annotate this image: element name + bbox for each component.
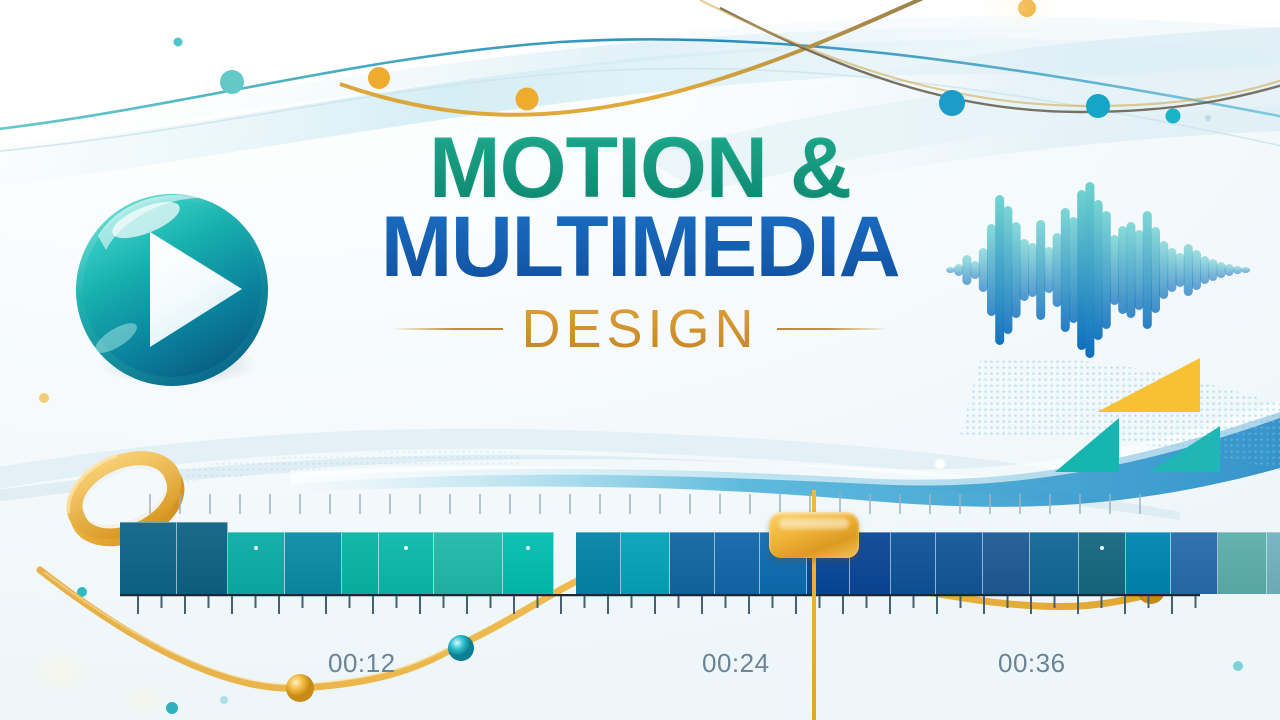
timeline-clip[interactable] <box>434 532 503 594</box>
timeline-clip[interactable] <box>1030 532 1079 594</box>
timeline-clip[interactable] <box>983 532 1030 594</box>
timestamp-2: 00:36 <box>998 648 1066 679</box>
timeline-clip[interactable] <box>715 532 760 594</box>
timeline-clip[interactable] <box>1218 532 1267 594</box>
clip-marker-dot <box>254 546 258 550</box>
timeline-clip[interactable] <box>120 522 177 594</box>
title-line-motion: MOTION & <box>300 128 980 210</box>
clip-marker-dot <box>526 546 530 550</box>
timeline-clip[interactable] <box>576 532 621 594</box>
timeline-clip[interactable] <box>177 522 228 594</box>
divider-right <box>777 328 889 330</box>
timeline-clip[interactable] <box>1079 532 1126 594</box>
clip-marker-dot <box>1100 546 1104 550</box>
timeline-clip[interactable] <box>1267 532 1280 594</box>
timeline-clip[interactable] <box>285 532 342 594</box>
playhead-handle[interactable] <box>769 512 859 558</box>
ruler-top <box>120 490 1200 522</box>
divider-left <box>391 328 503 330</box>
timeline-clip[interactable] <box>621 532 670 594</box>
timeline-clip[interactable] <box>891 532 936 594</box>
timeline-clip[interactable] <box>503 532 554 594</box>
playhead[interactable] <box>812 490 816 720</box>
timestamp-0: 00:12 <box>328 648 396 679</box>
poster-title: MOTION & MULTIMEDIA DESIGN <box>300 128 980 360</box>
timestamp-1: 00:24 <box>702 648 770 679</box>
title-line-design: DESIGN <box>521 298 758 360</box>
timeline-clip[interactable] <box>228 532 285 594</box>
title-design-row: DESIGN <box>300 298 980 360</box>
timeline-clip[interactable] <box>342 532 379 594</box>
timeline-clip[interactable] <box>670 532 715 594</box>
timeline-clip[interactable] <box>936 532 983 594</box>
timeline-clip[interactable] <box>1126 532 1171 594</box>
clip-marker-dot <box>404 546 408 550</box>
timeline-clips[interactable] <box>120 522 1280 594</box>
ruler-bottom <box>120 594 1200 620</box>
play-button[interactable] <box>72 188 280 392</box>
timeline-clip[interactable] <box>379 532 434 594</box>
poster-canvas: MOTION & MULTIMEDIA DESIGN 00:12 00:24 0… <box>0 0 1280 720</box>
title-line-multimedia: MULTIMEDIA <box>300 204 980 290</box>
timeline-gap[interactable] <box>554 532 576 594</box>
timeline-clip[interactable] <box>1171 532 1218 594</box>
timeline[interactable]: 00:12 00:24 00:36 <box>120 490 1200 690</box>
